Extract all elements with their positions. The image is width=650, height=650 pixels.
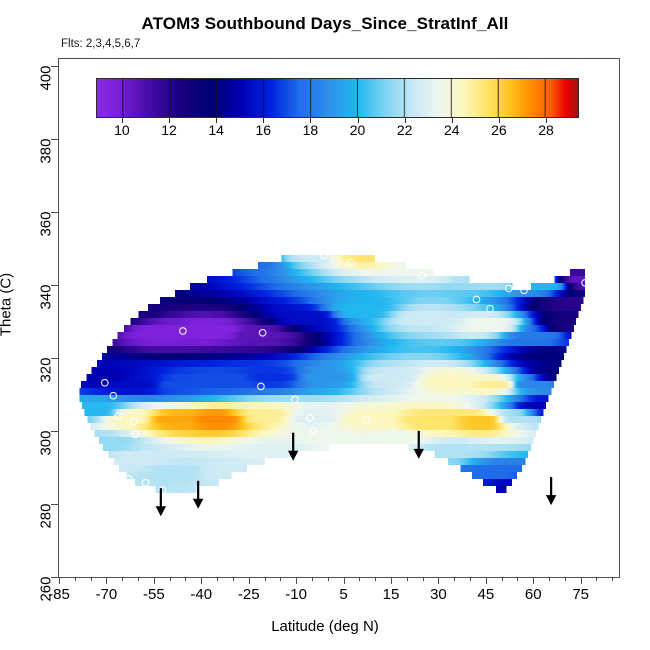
- y-axis-title: Theta (C): [0, 215, 15, 395]
- x-axis-minor-tick: [359, 577, 360, 581]
- x-axis-tick: [249, 577, 250, 584]
- x-axis-tick: [154, 577, 155, 584]
- x-axis-tick: [296, 577, 297, 584]
- x-axis-tick: [533, 577, 534, 584]
- x-axis-minor-tick: [265, 577, 266, 581]
- colorbar-tick-label: 20: [350, 122, 366, 138]
- marker-overlay: [59, 59, 619, 577]
- x-axis-tick: [438, 577, 439, 584]
- colorbar-tick-label: 16: [255, 122, 271, 138]
- x-axis-tick-label: -10: [285, 586, 307, 603]
- colorbar-tick-label: 24: [444, 122, 460, 138]
- x-axis-minor-tick: [549, 577, 550, 581]
- x-axis-minor-tick: [407, 577, 408, 581]
- colorbar-tick-label: 10: [114, 122, 130, 138]
- x-axis-minor-tick: [75, 577, 76, 581]
- x-axis-minor-tick: [596, 577, 597, 581]
- x-axis-minor-tick: [423, 577, 424, 581]
- x-axis-tick-label: -55: [143, 586, 165, 603]
- x-axis-minor-tick: [217, 577, 218, 581]
- x-axis-minor-tick: [517, 577, 518, 581]
- x-axis-tick: [106, 577, 107, 584]
- page-title: ATOM3 Southbound Days_Since_StratInf_All: [0, 14, 650, 34]
- y-axis-tick-label: 300: [38, 430, 55, 460]
- flights-subtitle: Flts: 2,3,4,5,6,7: [61, 38, 140, 50]
- x-axis-tick-label: -40: [190, 586, 212, 603]
- x-axis-tick-label: -25: [238, 586, 260, 603]
- x-axis-minor-tick: [502, 577, 503, 581]
- x-axis-minor-tick: [233, 577, 234, 581]
- colorbar-tick-label: 12: [161, 122, 177, 138]
- x-axis-tick-label: 30: [430, 586, 447, 603]
- colorbar-gradient: [96, 78, 579, 118]
- x-axis-minor-tick: [280, 577, 281, 581]
- colorbar: 10121416182022242628: [96, 78, 579, 118]
- x-axis-minor-tick: [122, 577, 123, 581]
- x-axis-minor-tick: [91, 577, 92, 581]
- x-axis-minor-tick: [375, 577, 376, 581]
- y-axis-tick-label: 280: [38, 503, 55, 533]
- x-axis-tick-label: 75: [572, 586, 589, 603]
- y-axis-tick-label: 400: [38, 65, 55, 95]
- x-axis-tick-label: -70: [96, 586, 118, 603]
- x-axis-tick: [59, 577, 60, 584]
- colorbar-tick-label: 18: [303, 122, 319, 138]
- x-axis-tick-label: 15: [383, 586, 400, 603]
- x-axis-minor-tick: [454, 577, 455, 581]
- colorbar-tick-label: 28: [538, 122, 554, 138]
- x-axis-minor-tick: [328, 577, 329, 581]
- x-axis-minor-tick: [612, 577, 613, 581]
- x-axis-minor-tick: [138, 577, 139, 581]
- x-axis-minor-tick: [565, 577, 566, 581]
- x-axis-tick-label: 60: [525, 586, 542, 603]
- x-axis-tick: [581, 577, 582, 584]
- x-axis-minor-tick: [470, 577, 471, 581]
- colorbar-tick-label: 14: [208, 122, 224, 138]
- y-axis-tick-label: 380: [38, 138, 55, 168]
- colorbar-tick-label: 26: [491, 122, 507, 138]
- x-axis-tick-label: 5: [339, 586, 347, 603]
- y-axis-tick-label: 260: [38, 577, 55, 607]
- y-axis-tick-label: 320: [38, 357, 55, 387]
- x-axis-tick: [391, 577, 392, 584]
- x-axis-title: Latitude (deg N): [0, 618, 650, 635]
- figure-root: ATOM3 Southbound Days_Since_StratInf_All…: [0, 0, 650, 650]
- y-axis-tick-label: 360: [38, 211, 55, 241]
- x-axis-minor-tick: [312, 577, 313, 581]
- colorbar-tick-label: 22: [397, 122, 413, 138]
- x-axis-tick-label: 45: [477, 586, 494, 603]
- x-axis-minor-tick: [185, 577, 186, 581]
- x-axis-tick: [486, 577, 487, 584]
- y-axis-tick-label: 340: [38, 284, 55, 314]
- x-axis-tick: [344, 577, 345, 584]
- x-axis-minor-tick: [170, 577, 171, 581]
- x-axis-tick: [201, 577, 202, 584]
